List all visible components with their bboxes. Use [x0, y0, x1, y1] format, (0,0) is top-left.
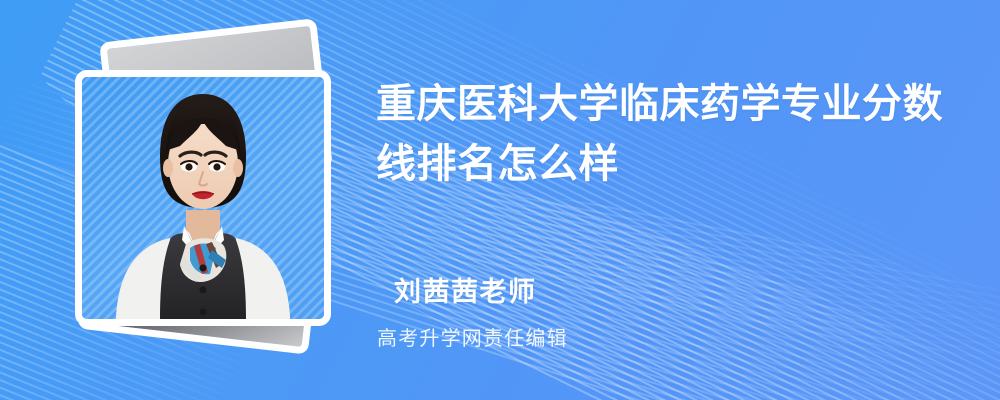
author-portrait-avatar: [98, 84, 308, 319]
page-title: 重庆医科大学临床药学专业分数线排名怎么样: [376, 74, 966, 194]
article-cover-banner: 重庆医科大学临床药学专业分数线排名怎么样 刘茜茜老师 高考升学网责任编辑: [0, 0, 1000, 400]
author-name: 刘茜茜老师: [394, 270, 537, 309]
photo-card-stack: [75, 70, 331, 326]
author-photo-frame: [75, 70, 331, 326]
author-role: 高考升学网责任编辑: [377, 322, 568, 351]
